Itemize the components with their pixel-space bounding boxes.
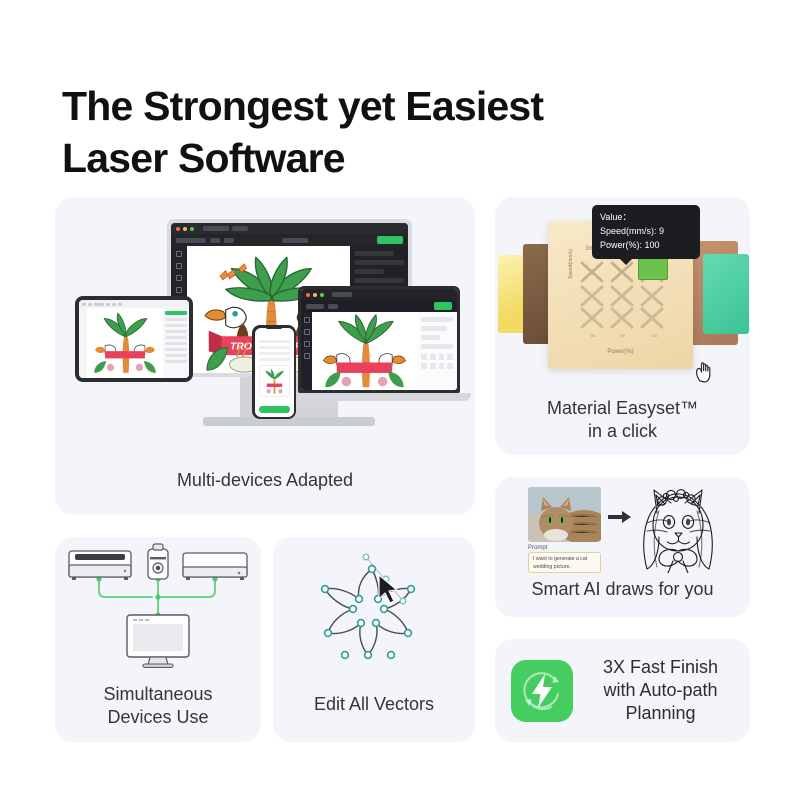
vector-anchor (405, 630, 412, 637)
tablet-toolbar[interactable] (79, 300, 189, 308)
phone-preview (259, 365, 290, 397)
toolbar-item[interactable] (306, 304, 324, 309)
laptop-base (287, 393, 471, 401)
tooltip-power: Power(%): 100 (600, 239, 692, 253)
card-edit-vectors[interactable]: Edit All Vectors (273, 537, 475, 742)
vector-anchor (373, 620, 380, 627)
close-icon[interactable] (306, 293, 310, 297)
page-title: The Strongest yet Easiest Laser Software (62, 81, 762, 184)
panel-row (354, 269, 384, 274)
vector-anchor (365, 652, 372, 659)
toolbar[interactable] (171, 234, 408, 246)
x-tick: 90 (621, 333, 625, 338)
card-label-material-line-2: in a click (495, 420, 750, 443)
phone-primary-button[interactable] (259, 406, 290, 413)
vector-illustration (273, 537, 475, 677)
multi-device-illustration: TROPICAL LIFE (55, 197, 475, 455)
toolbar-item[interactable] (210, 238, 220, 243)
vector-anchor (325, 630, 332, 637)
card-smart-ai[interactable]: Prompt I want to generate a cat wedding … (495, 477, 750, 617)
tropical-artwork-small (312, 312, 417, 390)
material-swatch-green (703, 254, 749, 334)
panel-accent-row (165, 311, 187, 315)
vector-anchor (369, 566, 376, 573)
laptop-toolbar[interactable] (301, 300, 457, 312)
fast-finish-line-1: 3X Fast Finish (587, 656, 734, 679)
primary-action-button[interactable] (377, 236, 403, 244)
phone-list-item[interactable] (259, 346, 290, 349)
phone-list-item[interactable] (259, 352, 290, 355)
laptop-titlebar (301, 289, 457, 300)
vector-anchor (342, 652, 349, 659)
titlebar-chip (332, 292, 352, 297)
tablet-canvas[interactable] (87, 308, 163, 378)
fast-finish-line-3: Planning (587, 702, 734, 725)
card-label-simultaneous-line-2: Devices Use (55, 706, 261, 729)
phone-device (252, 325, 296, 419)
phone-list-item[interactable] (259, 358, 290, 361)
arrow-right-icon (608, 510, 632, 524)
device-laser-engraver (69, 551, 131, 580)
maximize-icon[interactable] (320, 293, 324, 297)
vector-anchor (350, 606, 357, 613)
hand-cursor-icon (695, 361, 713, 383)
panel-row (354, 260, 404, 265)
phone-app-window (255, 328, 294, 417)
tropical-artwork-tiny (260, 366, 289, 396)
device-flatbed-laser (183, 553, 247, 580)
card-label-simultaneous: Simultaneous Devices Use (55, 683, 261, 730)
vector-anchor (408, 586, 415, 593)
page-root: The Strongest yet Easiest Laser Software (0, 0, 800, 800)
prompt-input[interactable]: I want to generate a cat wedding picture… (528, 552, 601, 573)
speed-badge (511, 660, 573, 722)
settings-tooltip: Value： Speed(mm/s): 9 Power(%): 100 (592, 205, 700, 259)
vector-anchor (356, 596, 363, 603)
vector-control-point (363, 554, 369, 560)
laptop-tool-rail[interactable] (301, 312, 312, 390)
toolbar-item[interactable] (176, 238, 206, 243)
laptop-properties-panel[interactable] (417, 312, 457, 390)
tablet-device (75, 296, 193, 382)
card-fast-finish[interactable]: 3X Fast Finish with Auto-path Planning (495, 639, 750, 742)
page-title-line-1: The Strongest yet Easiest (62, 81, 762, 132)
phone-notch (266, 326, 282, 329)
x-tick: 80 (591, 333, 595, 338)
fast-finish-text: 3X Fast Finish with Auto-path Planning (587, 656, 734, 725)
titlebar-chip (203, 226, 229, 231)
shape-tool-icon[interactable] (304, 341, 310, 347)
card-label-material: Material Easyset™ in a click (495, 397, 750, 444)
select-tool-icon[interactable] (304, 317, 310, 323)
pen-tool-icon[interactable] (304, 329, 310, 335)
maximize-icon[interactable] (190, 227, 194, 231)
fast-finish-line-2: with Auto-path (587, 679, 734, 702)
x-tick: 100 (651, 333, 658, 338)
page-title-line-2: Laser Software (62, 133, 762, 184)
vector-anchor (358, 620, 365, 627)
toolbar-item[interactable] (94, 303, 104, 306)
ai-generated-cat-line-art (635, 481, 721, 573)
toolbar-item[interactable] (112, 303, 116, 306)
device-handheld-module (148, 544, 168, 579)
ai-illustration: Prompt I want to generate a cat wedding … (495, 477, 750, 572)
laptop-device (298, 286, 460, 393)
panel-row (354, 251, 394, 256)
card-multi-devices[interactable]: TROPICAL LIFE (55, 197, 475, 515)
panel-row (354, 278, 404, 283)
card-material-easyset[interactable]: 3mm Basswoodplywood Speed(mm/s) (495, 197, 750, 455)
phone-list-item[interactable] (259, 340, 290, 343)
laptop-canvas[interactable] (312, 312, 417, 390)
toolbar-item[interactable] (106, 303, 110, 306)
text-tool-icon[interactable] (304, 353, 310, 359)
document-name (282, 238, 308, 243)
test-grid[interactable] (578, 259, 670, 331)
minimize-icon[interactable] (313, 293, 317, 297)
shape-tool-icon[interactable] (176, 275, 182, 281)
vector-anchor (381, 606, 388, 613)
device-computer (127, 615, 189, 667)
tooltip-speed: Speed(mm/s): 9 (600, 225, 692, 239)
close-icon[interactable] (176, 227, 180, 231)
titlebar-chip (232, 226, 248, 231)
pen-tool-icon[interactable] (176, 287, 182, 293)
toolbar-item[interactable] (82, 303, 86, 306)
vector-anchor (322, 586, 329, 593)
tropical-artwork-small (87, 308, 163, 378)
vector-anchor (388, 652, 395, 659)
card-simultaneous-devices[interactable]: Simultaneous Devices Use (55, 537, 261, 742)
toolbar-item[interactable] (328, 304, 338, 309)
tablet-app-window (79, 300, 189, 378)
toolbar-item[interactable] (88, 303, 92, 306)
prompt-label: Prompt (528, 545, 547, 551)
tablet-tool-rail[interactable] (79, 308, 87, 378)
minimize-icon[interactable] (183, 227, 187, 231)
x-axis-ticks: 80 90 100 (578, 333, 670, 338)
axis-label-speed: Speed(mm/s) (568, 249, 574, 279)
window-titlebar (171, 223, 408, 234)
card-label-simultaneous-line-1: Simultaneous (55, 683, 261, 706)
axis-label-power: Power(%) (548, 349, 693, 355)
vector-control-point (400, 598, 406, 604)
tooltip-heading: Value： (600, 211, 692, 225)
card-label-material-line-1: Material Easyset™ (495, 397, 750, 420)
primary-action-button[interactable] (434, 302, 452, 310)
source-cat-photo (528, 487, 601, 542)
card-label-edit-vectors: Edit All Vectors (273, 693, 475, 716)
card-label-multi-devices: Multi-devices Adapted (55, 469, 475, 492)
lightning-refresh-icon (511, 660, 573, 722)
toolbar-item[interactable] (118, 303, 122, 306)
selected-grid-cell[interactable] (638, 257, 668, 280)
tablet-properties-panel[interactable] (163, 308, 189, 378)
toolbar-item[interactable] (224, 238, 234, 243)
text-tool-icon[interactable] (176, 263, 182, 269)
select-tool-icon[interactable] (176, 251, 182, 257)
simultaneous-illustration (55, 537, 261, 672)
material-illustration: 3mm Basswoodplywood Speed(mm/s) (495, 197, 750, 392)
card-label-smart-ai: Smart AI draws for you (495, 578, 750, 601)
